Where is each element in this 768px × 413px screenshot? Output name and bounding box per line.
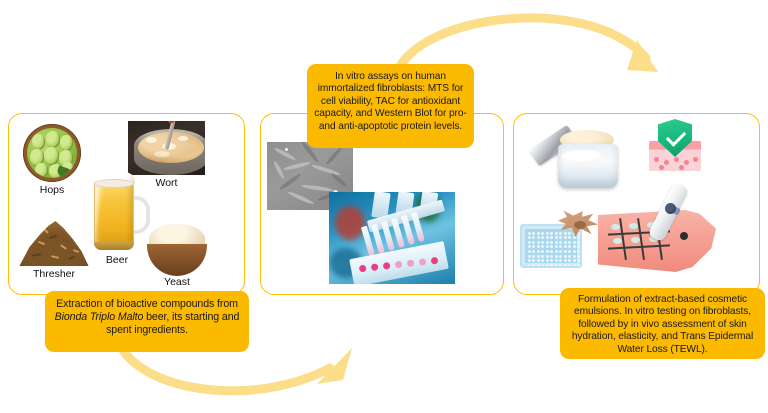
well [555,250,558,253]
wort-brewing-pot-image [128,121,205,175]
well [559,259,562,262]
well [541,236,544,239]
well [564,259,567,262]
well [550,232,553,235]
well [532,232,535,235]
well [573,245,576,248]
well [546,245,549,248]
well [564,241,567,244]
item-beer: Beer [87,170,147,270]
well [555,255,558,258]
item-label-yeast: Yeast [146,276,208,288]
caption-cosmetic-formulation: Formulation of extract-based cosmetic em… [560,288,765,359]
item-label-hops: Hops [23,184,81,196]
well [564,255,567,258]
caption-in-vitro-assays: In vitro assays on human immortalized fi… [307,64,474,148]
well [573,255,576,258]
well [532,250,535,253]
well [528,264,531,267]
well [528,245,531,248]
well [546,259,549,262]
item-label-thresher: Thresher [18,268,90,280]
well [550,245,553,248]
skin-probe-device-icon [652,182,712,262]
well [577,245,580,248]
skin-protection-shield-icon [646,119,706,181]
spent-grain-mound-icon [18,216,90,266]
well [568,245,571,248]
cosmetic-cream-jar-icon [530,122,630,196]
well [537,245,540,248]
well [528,259,531,262]
well [546,264,549,267]
yeast-bowl-icon [146,224,208,276]
well [568,250,571,253]
well [559,264,562,267]
figure-canvas: Hops Wort B [0,0,768,413]
well [528,232,531,235]
fibroblast-cell-icon [558,210,600,240]
well [550,241,553,244]
well [564,245,567,248]
well [537,241,540,244]
well [541,264,544,267]
well [573,264,576,267]
item-yeast: Yeast [146,224,208,288]
well [546,255,549,258]
well [537,264,540,267]
well [577,255,580,258]
well [550,255,553,258]
well [537,259,540,262]
well [568,255,571,258]
item-thresher: Thresher [18,216,90,284]
multichannel-pipette-microplate-image [329,192,455,284]
well [559,241,562,244]
well [573,259,576,262]
well [546,250,549,253]
well [550,259,553,262]
well [577,250,580,253]
caption-1-italic: Bionda Triplo Malto [55,311,144,323]
panel-cosmetic-formulation [513,113,760,295]
well [532,259,535,262]
well [532,241,535,244]
well [537,232,540,235]
well [555,259,558,262]
caption-extraction: Extraction of bioactive compounds from B… [45,291,249,352]
well [555,241,558,244]
item-label-beer: Beer [87,254,147,266]
caption-1-before: Extraction of bioactive compounds from [56,298,238,310]
well [550,250,553,253]
well [559,255,562,258]
beer-mug-icon [87,170,145,254]
well [541,259,544,262]
well [573,250,576,253]
well [568,241,571,244]
well [577,264,580,267]
hops-bowl-icon [23,124,81,182]
well [564,264,567,267]
well [577,259,580,262]
well [537,250,540,253]
well [559,245,562,248]
well [555,245,558,248]
well [532,236,535,239]
well [528,255,531,258]
well [577,241,580,244]
panel-raw-materials: Hops Wort B [8,113,245,295]
well [532,245,535,248]
well [546,236,549,239]
well [559,250,562,253]
well [555,264,558,267]
item-hops: Hops [23,124,81,198]
well [537,236,540,239]
well [532,264,535,267]
well [550,264,553,267]
well [537,255,540,258]
well [550,236,553,239]
well [573,241,576,244]
well [528,250,531,253]
well [568,259,571,262]
well [546,232,549,235]
well [546,241,549,244]
well [541,255,544,258]
well [564,250,567,253]
well [541,241,544,244]
well [541,245,544,248]
well [568,264,571,267]
well [541,250,544,253]
well [532,255,535,258]
well [528,241,531,244]
well [541,232,544,235]
well [528,236,531,239]
